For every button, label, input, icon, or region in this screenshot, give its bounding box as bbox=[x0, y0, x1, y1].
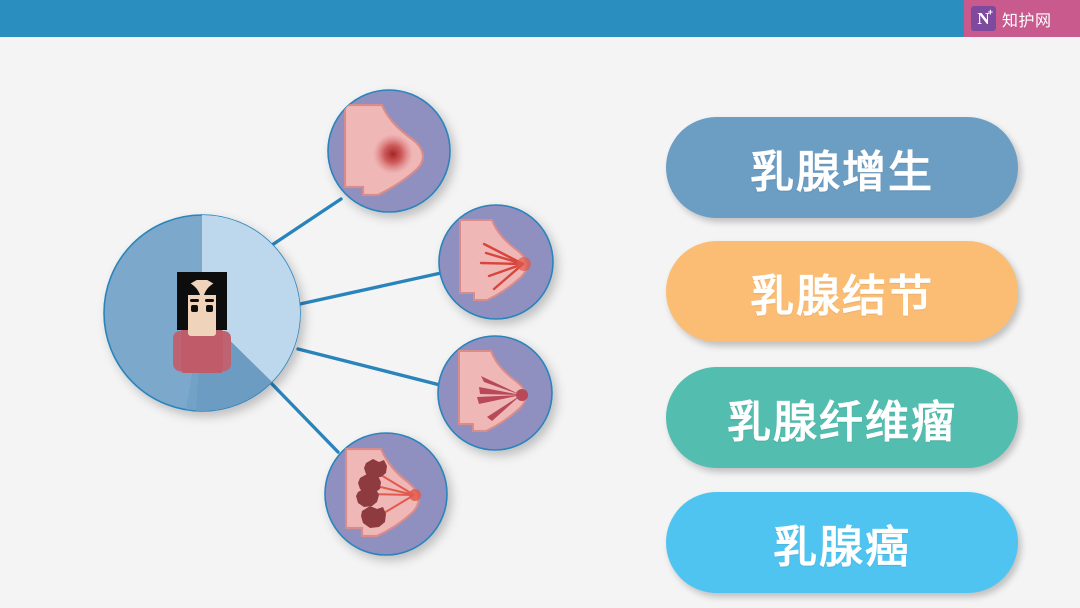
woman-avatar bbox=[173, 272, 231, 373]
node-breast-hyperplasia[interactable] bbox=[328, 90, 450, 212]
breast-disease-diagram bbox=[0, 37, 640, 608]
nipple-marker bbox=[516, 389, 528, 401]
nipple-marker bbox=[517, 257, 531, 271]
nipple-marker bbox=[409, 489, 421, 501]
brand-name-label: 知护网 bbox=[1002, 7, 1052, 31]
connector-to-nodule bbox=[300, 273, 441, 304]
avatar-eyebrow-right bbox=[205, 299, 214, 302]
lesion-spot bbox=[373, 134, 413, 174]
node-breast-fibroadenoma[interactable] bbox=[438, 336, 552, 450]
connector-to-hyperplasia bbox=[266, 199, 341, 249]
pill-label: 乳腺结节 bbox=[750, 260, 934, 324]
pill-label: 乳腺纤维瘤 bbox=[727, 386, 957, 450]
diagram-stage: 乳腺增生 乳腺结节 乳腺纤维瘤 乳腺癌 bbox=[0, 37, 1080, 608]
brand-badge: N + 知护网 bbox=[964, 0, 1080, 37]
avatar-eyebrow-left bbox=[190, 299, 199, 302]
connector-to-cancer bbox=[272, 384, 338, 452]
pill-label: 乳腺增生 bbox=[750, 136, 934, 200]
connector-to-fibroadenoma bbox=[298, 349, 440, 385]
avatar-eye-right bbox=[206, 305, 213, 312]
brand-logo-icon: N + bbox=[971, 6, 996, 31]
center-node-woman[interactable] bbox=[104, 215, 300, 411]
node-breast-nodule[interactable] bbox=[439, 205, 553, 319]
node-breast-cancer[interactable] bbox=[325, 433, 447, 555]
label-pill-breast-cancer[interactable]: 乳腺癌 bbox=[666, 492, 1018, 593]
avatar-eye-left bbox=[191, 305, 198, 312]
top-banner-bar: N + 知护网 bbox=[0, 0, 1080, 37]
label-pill-breast-fibroadenoma[interactable]: 乳腺纤维瘤 bbox=[666, 367, 1018, 468]
brand-logo-plus-icon: + bbox=[988, 8, 993, 17]
label-pill-breast-hyperplasia[interactable]: 乳腺增生 bbox=[666, 117, 1018, 218]
pill-label: 乳腺癌 bbox=[773, 511, 911, 575]
slide-canvas: N + 知护网 bbox=[0, 0, 1080, 608]
label-pill-breast-nodule[interactable]: 乳腺结节 bbox=[666, 241, 1018, 342]
